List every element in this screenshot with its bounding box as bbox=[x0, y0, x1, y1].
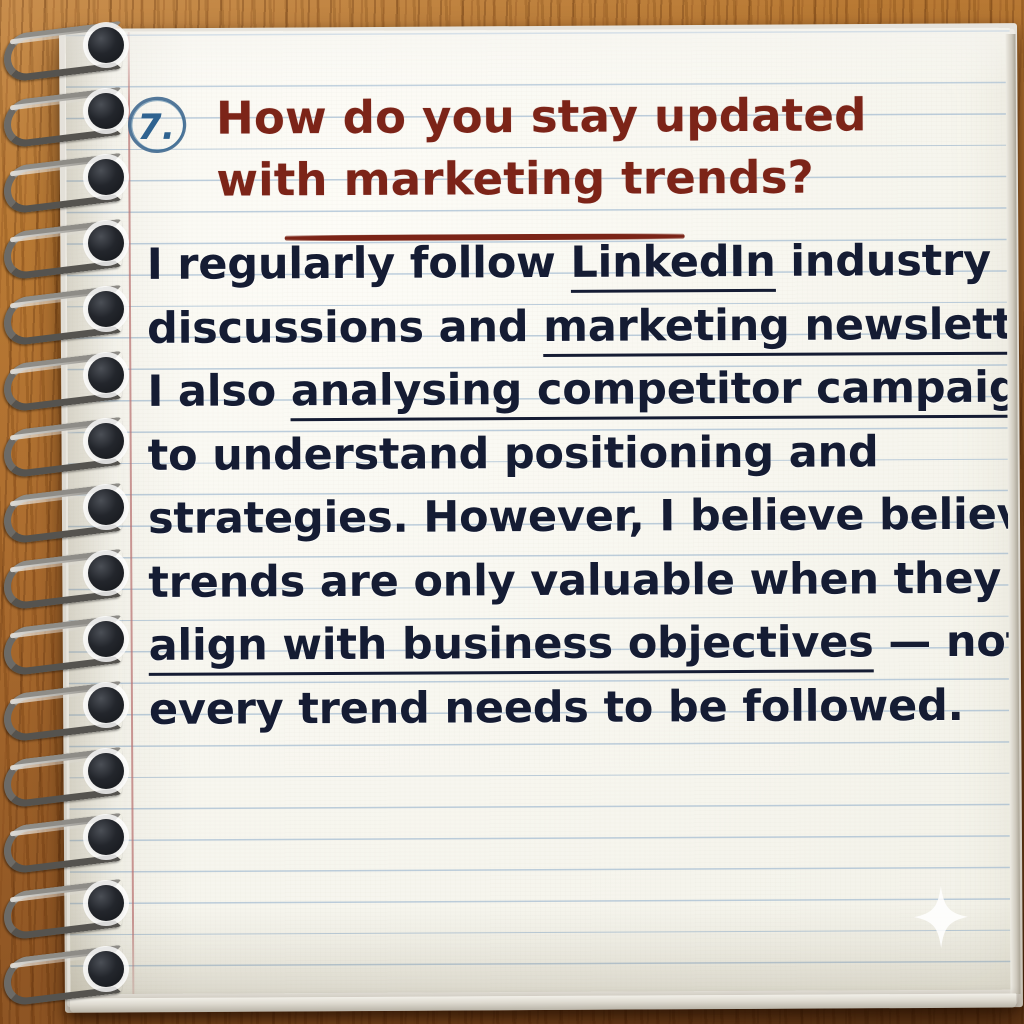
answer-line: discussions and marketing newsletters. bbox=[147, 293, 977, 361]
answer-underlined-phrase: analysing competitor campaigns bbox=[291, 362, 1015, 421]
punch-hole bbox=[88, 159, 124, 195]
answer-line: trends are only valuable when they bbox=[148, 547, 978, 615]
answer-line: to understand positioning and bbox=[148, 420, 978, 488]
answer-line: every trend needs to be followed. bbox=[149, 674, 979, 742]
punch-hole bbox=[88, 225, 124, 261]
punch-hole bbox=[88, 357, 124, 393]
spiral-ring bbox=[4, 418, 136, 464]
spiral-ring bbox=[4, 352, 136, 398]
spiral-ring bbox=[4, 154, 136, 200]
answer-phrase: industry bbox=[775, 236, 991, 287]
spiral-ring bbox=[4, 22, 136, 68]
answer-line: I regularly follow LinkedIn industry bbox=[147, 230, 977, 298]
spiral-ring bbox=[4, 946, 136, 992]
answer-underlined-phrase: align with business objectives bbox=[149, 617, 874, 676]
answer-line: strategies. However, I believe believe bbox=[148, 484, 978, 552]
spiral-ring bbox=[4, 88, 136, 134]
punch-hole bbox=[88, 819, 124, 855]
answer-phrase: to understand positioning and bbox=[148, 427, 879, 481]
answer-phrase: strategies. However, I believe believe bbox=[148, 489, 1014, 543]
answer-phrase: every trend needs to be followed. bbox=[149, 680, 964, 734]
spiral-ring bbox=[4, 286, 136, 332]
spiral-ring bbox=[4, 880, 136, 926]
answer-phrase: I also bbox=[147, 366, 291, 417]
spiral-binding bbox=[0, 0, 150, 1024]
punch-hole bbox=[88, 93, 124, 129]
question-block: 7. How do you stay updated with marketin… bbox=[126, 84, 966, 88]
spiral-ring bbox=[4, 616, 136, 662]
answer-underlined-phrase: marketing newsletters. bbox=[543, 299, 1014, 357]
answer-underlined-phrase: LinkedIn bbox=[570, 237, 775, 293]
answer-phrase: discussions and bbox=[147, 301, 543, 353]
spiral-ring bbox=[4, 814, 136, 860]
answer-phrase: I regularly follow bbox=[147, 238, 571, 290]
punch-hole bbox=[88, 423, 124, 459]
punch-hole bbox=[88, 687, 124, 723]
punch-hole bbox=[88, 555, 124, 591]
heading-line-2: marketing trends? bbox=[343, 151, 814, 206]
answer-phrase: trends are only valuable when they bbox=[148, 553, 1001, 607]
answer-phrase: — not bbox=[873, 617, 1014, 668]
punch-hole bbox=[88, 291, 124, 327]
sparkle-icon bbox=[914, 886, 968, 948]
spiral-ring bbox=[4, 682, 136, 728]
spiral-ring bbox=[4, 484, 136, 530]
spiral-ring bbox=[4, 550, 136, 596]
punch-hole bbox=[88, 951, 124, 987]
spiral-ring bbox=[4, 748, 136, 794]
punch-hole bbox=[88, 753, 124, 789]
notebook-page: 7. How do you stay updated with marketin… bbox=[66, 28, 1015, 995]
punch-hole bbox=[88, 621, 124, 657]
spiral-ring bbox=[4, 220, 136, 266]
question-heading: How do you stay updated with marketing t… bbox=[216, 84, 957, 212]
answer-line: I also analysing competitor campaigns bbox=[147, 357, 977, 425]
notebook-photo-scene: 7. How do you stay updated with marketin… bbox=[0, 0, 1024, 1024]
punch-hole bbox=[88, 489, 124, 525]
punch-hole bbox=[88, 27, 124, 63]
punch-hole bbox=[88, 885, 124, 921]
answer-line: align with business objectives — not bbox=[149, 611, 979, 679]
page-content: 7. How do you stay updated with marketin… bbox=[66, 28, 1015, 995]
answer-text: I regularly follow LinkedIn industrydisc… bbox=[147, 230, 979, 742]
